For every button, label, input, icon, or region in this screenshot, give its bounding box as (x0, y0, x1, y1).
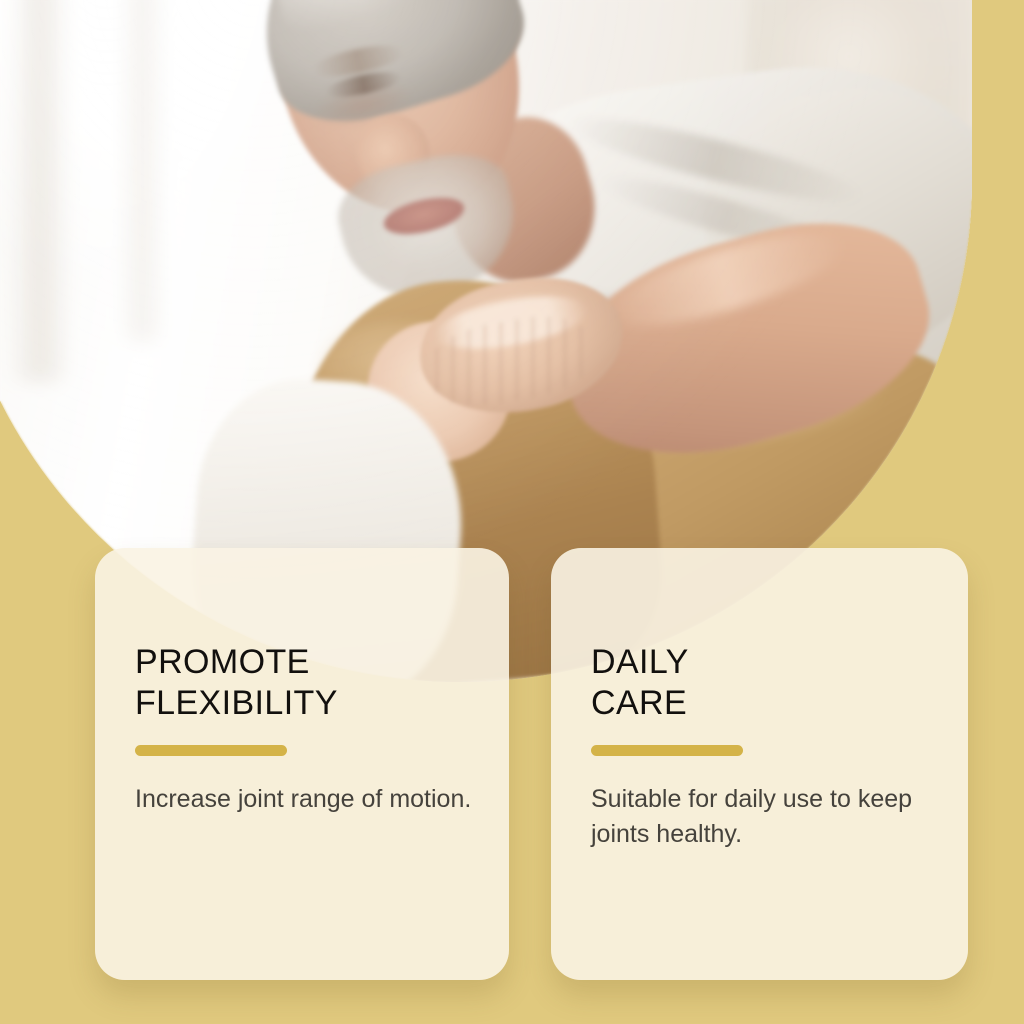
card-body-text: Increase joint range of motion. (135, 782, 473, 818)
promo-canvas: PROMOTE FLEXIBILITY Increase joint range… (0, 0, 1024, 1024)
feature-card-daily-care[interactable]: DAILY CARE Suitable for daily use to kee… (551, 548, 968, 980)
card-body-text: Suitable for daily use to keep joints he… (591, 782, 932, 853)
card-title: DAILY CARE (591, 642, 932, 725)
accent-bar-icon (591, 745, 743, 756)
card-content: PROMOTE FLEXIBILITY Increase joint range… (135, 642, 473, 817)
accent-bar-icon (135, 745, 287, 756)
feature-card-row: PROMOTE FLEXIBILITY Increase joint range… (0, 0, 1024, 1024)
card-title: PROMOTE FLEXIBILITY (135, 642, 473, 725)
feature-card-promote-flexibility[interactable]: PROMOTE FLEXIBILITY Increase joint range… (95, 548, 509, 980)
card-content: DAILY CARE Suitable for daily use to kee… (591, 642, 932, 853)
